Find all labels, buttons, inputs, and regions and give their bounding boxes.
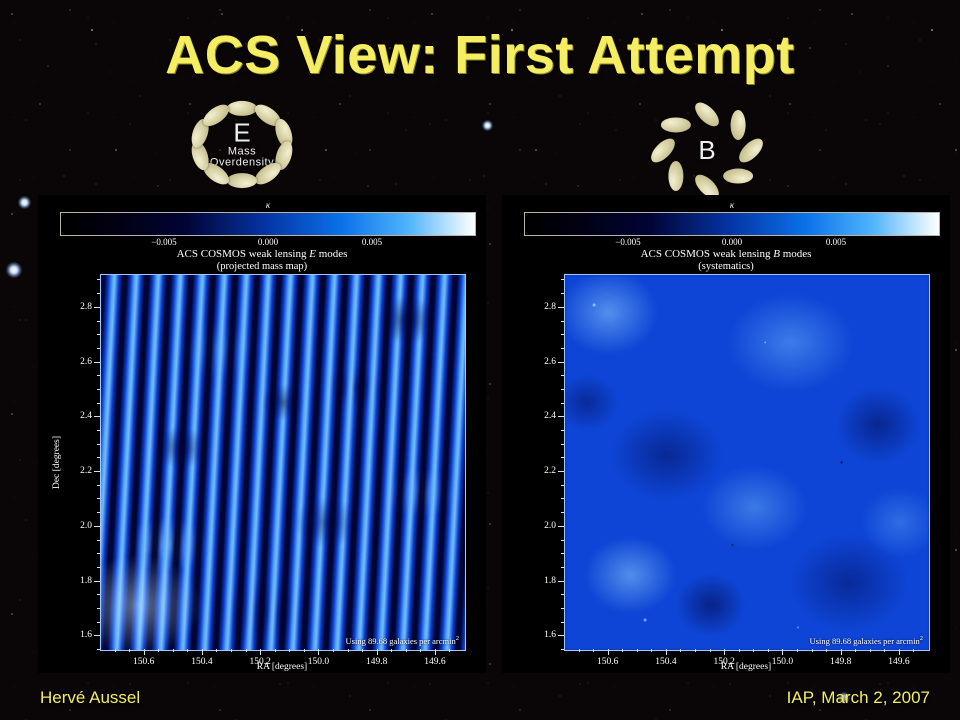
b-colorbar-group: κ −0.005 0.000 0.005 bbox=[524, 200, 940, 246]
e-colorbar-gradient bbox=[60, 212, 476, 236]
y-tick-label: 2.4 bbox=[68, 411, 92, 421]
slide-title: ACS View: First Attempt bbox=[0, 24, 960, 86]
e-panel-title: ACS COSMOS weak lensing E modes (project… bbox=[38, 248, 486, 273]
e-mode-letter: E bbox=[233, 118, 250, 148]
e-y-axis-label: Dec [degrees] bbox=[52, 275, 62, 650]
slide-canvas: ACS View: First Attempt E Mass Overdensi… bbox=[0, 0, 960, 720]
y-tick-label: 2.0 bbox=[532, 521, 556, 531]
mode-ellipse bbox=[668, 161, 683, 191]
b-mode-diagram: B bbox=[645, 98, 769, 202]
e-panel-subtitle: (projected mass map) bbox=[38, 261, 486, 273]
b-map-annotation: Using 89.68 galaxies per arcmin2 bbox=[810, 635, 923, 646]
y-tick-label: 2.8 bbox=[532, 302, 556, 312]
y-tick-label: 2.4 bbox=[532, 411, 556, 421]
e-panel-title-text: ACS COSMOS weak lensing E modes bbox=[177, 248, 348, 260]
e-colorbar-label: κ bbox=[60, 200, 476, 210]
e-colorbar-tick: −0.005 bbox=[151, 237, 176, 247]
mode-ellipse bbox=[691, 98, 723, 130]
b-panel-subtitle: (systematics) bbox=[502, 261, 950, 273]
e-mode-figure-panel: κ −0.005 0.000 0.005 ACS COSMOS weak len… bbox=[38, 195, 486, 673]
y-tick-label: 2.2 bbox=[68, 466, 92, 476]
y-tick-label: 2.6 bbox=[68, 357, 92, 367]
y-tick-label: 2.8 bbox=[68, 302, 92, 312]
bright-star bbox=[18, 196, 31, 209]
e-mode-diagram: E Mass Overdensity bbox=[180, 92, 304, 196]
b-panel-title: ACS COSMOS weak lensing B modes (systema… bbox=[502, 248, 950, 273]
y-tick-label: 1.8 bbox=[532, 576, 556, 586]
e-map-annotation: Using 89.68 galaxies per arcmin2 bbox=[346, 635, 459, 646]
e-colorbar-tick: 0.005 bbox=[362, 237, 382, 247]
mode-ellipse bbox=[227, 173, 257, 188]
y-tick-label: 1.6 bbox=[68, 630, 92, 640]
bright-star bbox=[482, 120, 493, 131]
e-colorbar-tick: 0.000 bbox=[258, 237, 278, 247]
e-x-axis-label: RA [degrees] bbox=[100, 662, 464, 672]
b-mode-figure-panel: κ −0.005 0.000 0.005 ACS COSMOS weak len… bbox=[502, 195, 950, 673]
b-panel-title-text: ACS COSMOS weak lensing B modes bbox=[641, 248, 812, 260]
b-mode-letter: B bbox=[698, 135, 715, 165]
mode-ellipse bbox=[661, 117, 691, 132]
y-tick-label: 2.6 bbox=[532, 357, 556, 367]
mode-ellipse bbox=[723, 168, 753, 183]
b-colorbar-label: κ bbox=[524, 200, 940, 210]
y-tick-label: 1.6 bbox=[532, 630, 556, 640]
mode-ellipse bbox=[227, 100, 257, 115]
e-mode-map[interactable]: Using 89.68 galaxies per arcmin2 bbox=[100, 274, 466, 651]
y-tick-label: 2.0 bbox=[68, 521, 92, 531]
mode-ellipse bbox=[731, 109, 746, 139]
y-tick-label: 2.2 bbox=[532, 466, 556, 476]
b-colorbar-gradient bbox=[524, 212, 940, 236]
footer-venue: IAP, March 2, 2007 bbox=[787, 688, 930, 708]
e-mode-map-overlay bbox=[101, 275, 465, 650]
b-colorbar-tick: −0.005 bbox=[615, 237, 640, 247]
b-mode-map-overlay bbox=[565, 275, 929, 650]
b-colorbar-tick: 0.000 bbox=[722, 237, 742, 247]
b-x-axis-label: RA [degrees] bbox=[564, 662, 928, 672]
bright-star bbox=[6, 262, 22, 278]
y-tick-label: 1.8 bbox=[68, 576, 92, 586]
footer-author: Hervé Aussel bbox=[40, 688, 140, 708]
e-colorbar-group: κ −0.005 0.000 0.005 bbox=[60, 200, 476, 246]
b-colorbar-tick: 0.005 bbox=[826, 237, 846, 247]
b-mode-map[interactable]: Using 89.68 galaxies per arcmin2 bbox=[564, 274, 930, 651]
